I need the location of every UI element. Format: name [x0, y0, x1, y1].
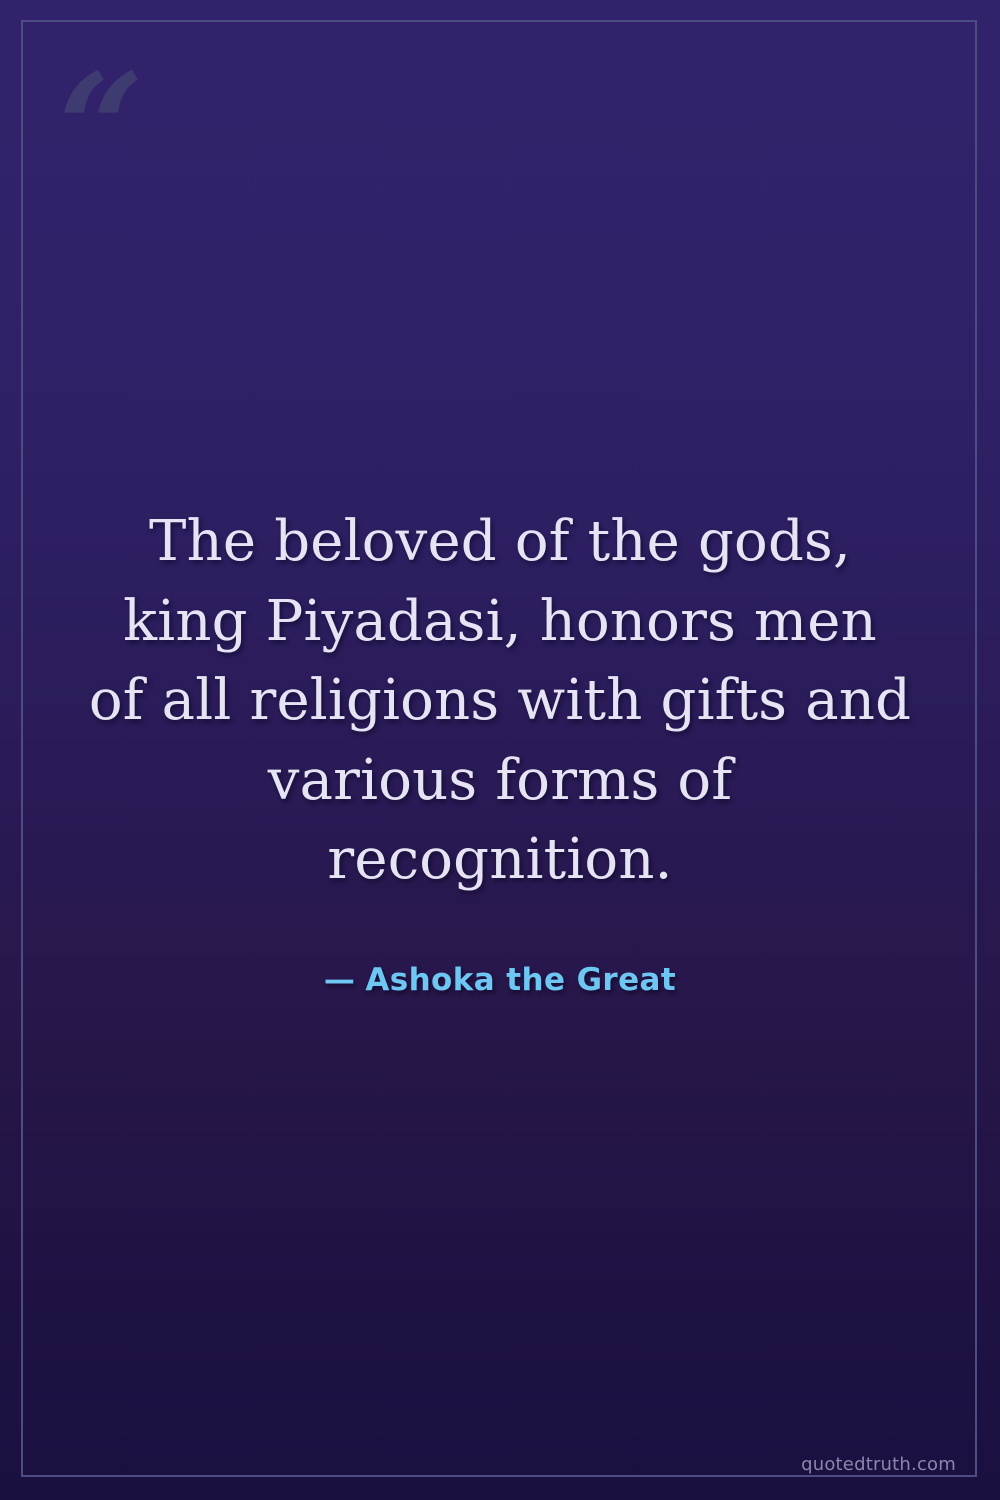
site-watermark: quotedtruth.com [801, 1454, 956, 1475]
quote-attribution: —Ashoka the Great [88, 962, 912, 998]
quote-content: The beloved of the gods, king Piyadasi, … [0, 0, 1000, 1500]
attribution-author: Ashoka the Great [365, 962, 676, 998]
quote-text: The beloved of the gods, king Piyadasi, … [88, 502, 912, 900]
quote-card: “ The beloved of the gods, king Piyadasi… [0, 0, 1000, 1500]
attribution-dash: — [324, 962, 355, 998]
